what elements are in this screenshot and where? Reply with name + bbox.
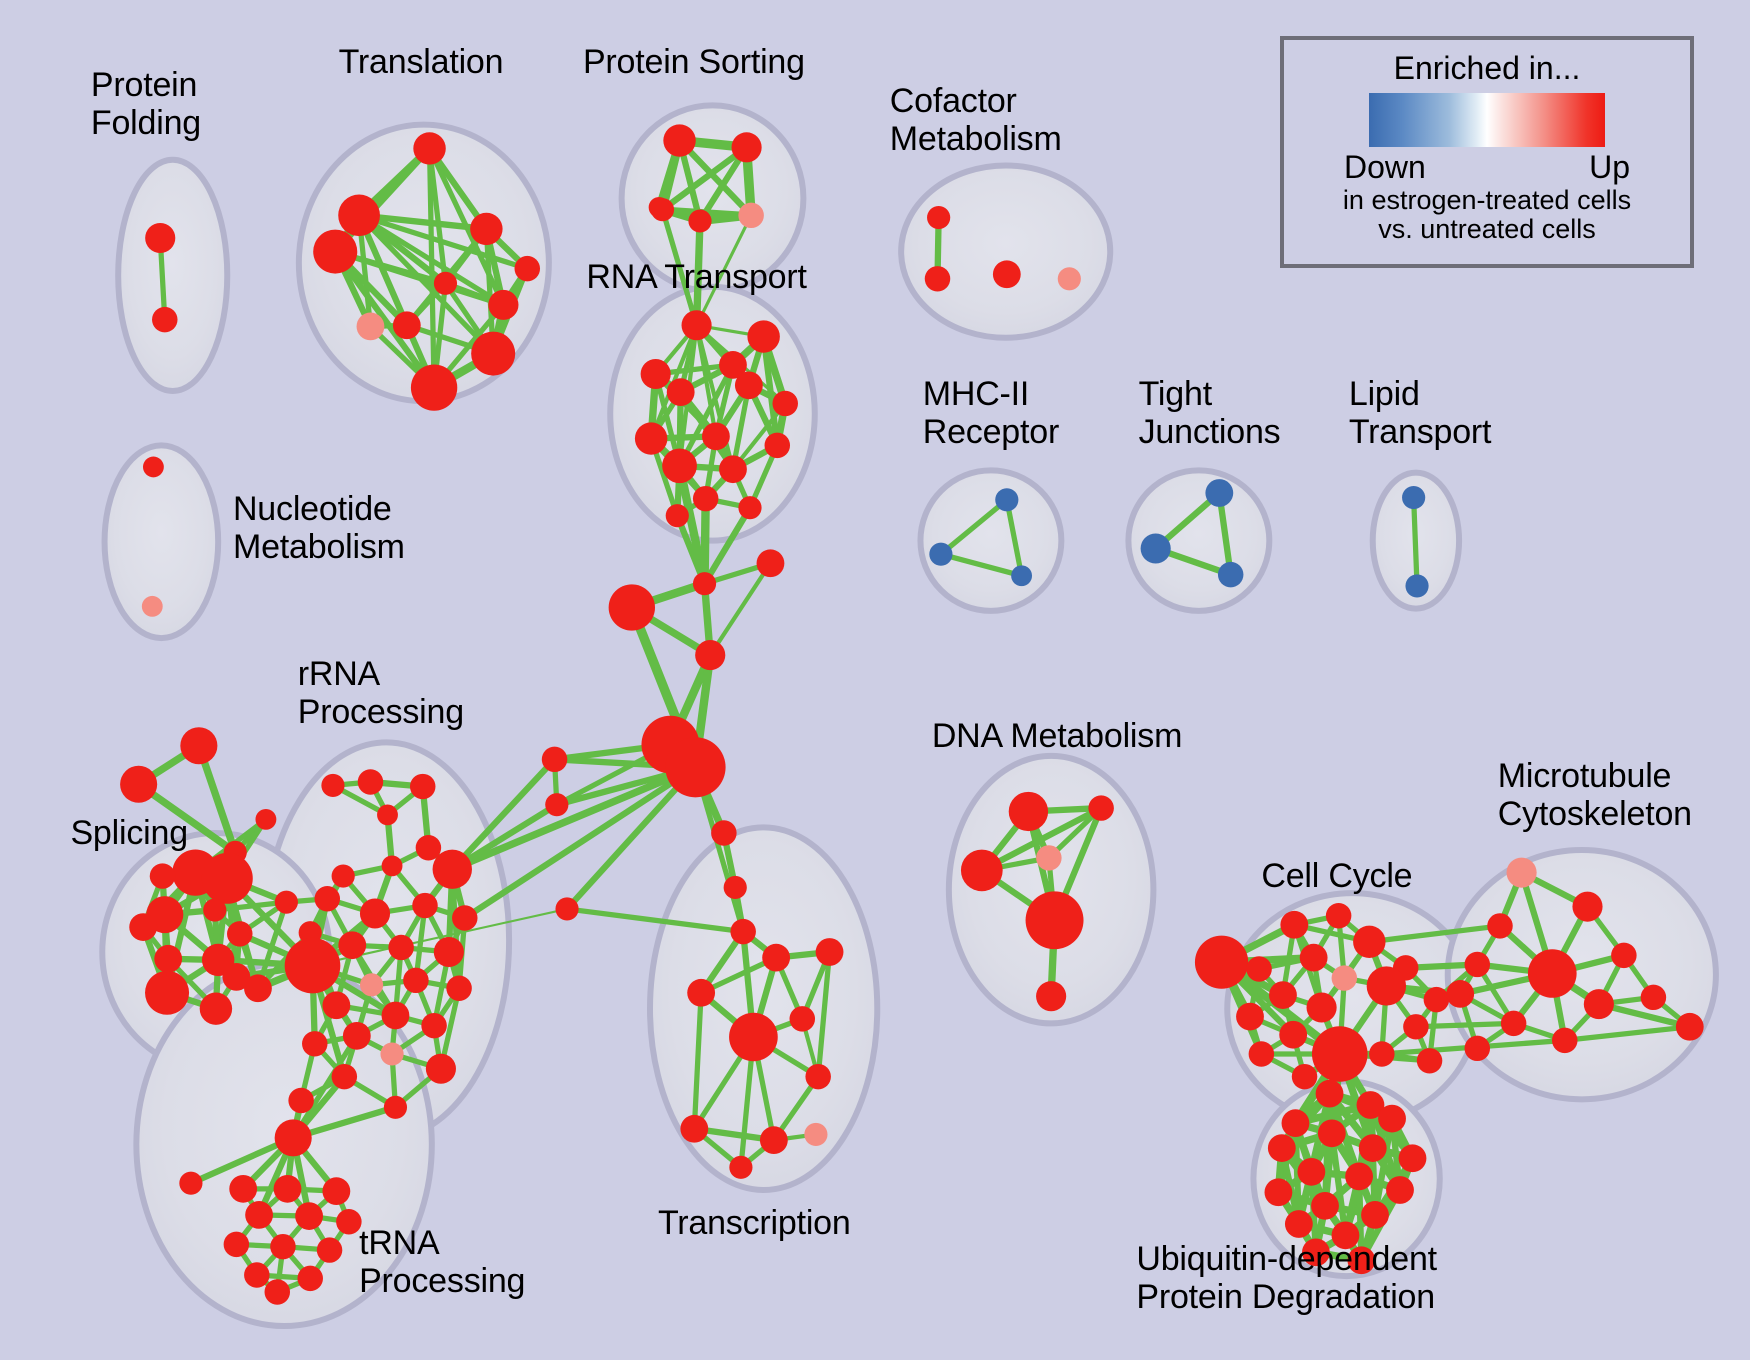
network-node[interactable] <box>687 979 715 1007</box>
cluster-ellipse-protein_folding[interactable] <box>118 160 227 391</box>
network-node[interactable] <box>357 313 385 341</box>
network-node[interactable] <box>202 853 253 904</box>
network-node[interactable] <box>313 230 357 274</box>
network-node[interactable] <box>1465 1036 1491 1061</box>
legend-endpoint-labels: Down Up <box>1344 149 1630 186</box>
cluster-ellipse-microtubule[interactable] <box>1448 850 1716 1099</box>
network-node[interactable] <box>1446 980 1474 1008</box>
network-node[interactable] <box>275 1119 312 1156</box>
cluster-label-rrna_processing: rRNA Processing <box>298 655 464 731</box>
network-node[interactable] <box>1292 1064 1318 1089</box>
cluster-label-dna_metabolism: DNA Metabolism <box>932 717 1182 755</box>
network-node[interactable] <box>649 197 670 218</box>
network-node[interactable] <box>730 919 756 944</box>
network-node[interactable] <box>1424 987 1450 1012</box>
network-node[interactable] <box>729 1013 778 1062</box>
network-node[interactable] <box>1378 1105 1406 1133</box>
network-node[interactable] <box>452 905 478 930</box>
network-node[interactable] <box>410 774 436 799</box>
network-node[interactable] <box>545 793 568 816</box>
network-node[interactable] <box>471 332 515 376</box>
network-node[interactable] <box>302 1031 328 1056</box>
network-node[interactable] <box>816 938 844 966</box>
network-node[interactable] <box>555 897 578 920</box>
network-node[interactable] <box>393 311 421 339</box>
network-node[interactable] <box>635 422 667 454</box>
network-node[interactable] <box>358 769 384 794</box>
network-node[interactable] <box>1218 562 1244 587</box>
network-node[interactable] <box>150 863 176 888</box>
cluster-label-protein_folding: Protein Folding <box>91 66 201 142</box>
network-node[interactable] <box>1307 993 1337 1023</box>
network-node[interactable] <box>641 359 671 389</box>
network-node[interactable] <box>295 1202 323 1230</box>
network-node[interactable] <box>1236 1003 1264 1031</box>
network-node[interactable] <box>434 937 464 967</box>
network-node[interactable] <box>790 1006 816 1031</box>
network-node[interactable] <box>738 496 761 519</box>
network-node[interactable] <box>693 572 716 595</box>
network-node[interactable] <box>1465 952 1491 977</box>
cluster-label-lipid_transport: Lipid Transport <box>1349 375 1491 451</box>
network-node[interactable] <box>1300 944 1328 972</box>
cluster-label-microtubule: Microtubule Cytoskeleton <box>1498 757 1692 833</box>
network-node[interactable] <box>1311 1192 1339 1220</box>
network-node[interactable] <box>145 971 189 1015</box>
network-node[interactable] <box>288 1088 314 1113</box>
network-node[interactable] <box>1507 858 1537 888</box>
network-node[interactable] <box>360 898 390 928</box>
legend-high-label: Up <box>1589 149 1630 186</box>
network-node[interactable] <box>384 1096 407 1119</box>
network-node[interactable] <box>488 290 518 320</box>
network-node[interactable] <box>120 766 157 803</box>
network-node[interactable] <box>688 209 711 232</box>
network-node[interactable] <box>224 1232 250 1257</box>
network-node[interactable] <box>1280 911 1308 939</box>
network-node[interactable] <box>1584 989 1614 1019</box>
network-node[interactable] <box>274 1175 302 1203</box>
network-node[interactable] <box>1552 1028 1578 1053</box>
network-node[interactable] <box>338 195 380 237</box>
network-node[interactable] <box>1528 949 1577 998</box>
network-node[interactable] <box>1026 891 1084 949</box>
network-node[interactable] <box>760 1126 788 1154</box>
network-node[interactable] <box>1269 981 1297 1009</box>
network-node[interactable] <box>693 486 719 511</box>
edge[interactable] <box>705 499 706 584</box>
network-node[interactable] <box>245 1201 273 1229</box>
network-node[interactable] <box>227 921 253 946</box>
legend-caption-line-1: in estrogen-treated cells <box>1343 186 1631 215</box>
network-node[interactable] <box>1572 892 1602 922</box>
cluster-label-transcription: Transcription <box>658 1204 851 1242</box>
network-node[interactable] <box>275 891 298 914</box>
network-node[interactable] <box>665 737 725 797</box>
network-node[interactable] <box>142 596 163 617</box>
network-node[interactable] <box>1009 792 1048 831</box>
network-node[interactable] <box>433 850 472 889</box>
network-node[interactable] <box>1268 1134 1296 1162</box>
edge[interactable] <box>1414 498 1417 586</box>
network-node[interactable] <box>200 992 232 1024</box>
network-node[interactable] <box>1141 534 1171 564</box>
network-node[interactable] <box>336 1209 362 1234</box>
network-node[interactable] <box>1265 1178 1293 1206</box>
network-node[interactable] <box>145 223 175 253</box>
network-node[interactable] <box>129 913 157 941</box>
edge[interactable] <box>1416 1023 1514 1026</box>
network-node[interactable] <box>1399 1144 1427 1172</box>
network-node[interactable] <box>1297 1158 1325 1186</box>
network-node[interactable] <box>421 1013 447 1038</box>
network-node[interactable] <box>1641 985 1667 1010</box>
network-node[interactable] <box>434 272 457 295</box>
network-node[interactable] <box>222 963 250 991</box>
network-node[interactable] <box>322 991 350 1019</box>
cluster-ellipse-cofactor[interactable] <box>901 165 1110 337</box>
network-node[interactable] <box>1279 1021 1307 1049</box>
network-node[interactable] <box>1402 486 1425 509</box>
network-node[interactable] <box>735 371 763 399</box>
network-node[interactable] <box>732 132 762 162</box>
legend-color-bar <box>1369 93 1605 147</box>
network-node[interactable] <box>413 132 445 164</box>
network-node[interactable] <box>1361 1201 1389 1229</box>
network-node[interactable] <box>1501 1011 1527 1036</box>
network-node[interactable] <box>667 378 695 406</box>
network-node[interactable] <box>1326 903 1352 928</box>
network-node[interactable] <box>1036 981 1066 1011</box>
network-node[interactable] <box>332 865 355 888</box>
cluster-label-tight_junctions: Tight Junctions <box>1139 375 1281 451</box>
cluster-label-rna_transport: RNA Transport <box>586 258 806 296</box>
network-node[interactable] <box>343 1022 371 1050</box>
network-node[interactable] <box>1369 1041 1395 1066</box>
network-node[interactable] <box>927 206 950 229</box>
legend-low-label: Down <box>1344 149 1426 186</box>
network-node[interactable] <box>380 1042 403 1065</box>
network-node[interactable] <box>1036 845 1062 870</box>
network-node[interactable] <box>360 973 383 996</box>
network-node[interactable] <box>724 876 747 899</box>
network-node[interactable] <box>1318 1119 1346 1147</box>
network-node[interactable] <box>805 1064 831 1089</box>
network-node[interactable] <box>757 549 785 577</box>
network-node[interactable] <box>229 1175 257 1203</box>
network-node[interactable] <box>255 809 276 830</box>
network-node[interactable] <box>1088 795 1114 820</box>
network-node[interactable] <box>388 935 414 960</box>
cluster-ellipse-mhc2[interactable] <box>920 470 1061 611</box>
network-node[interactable] <box>470 213 502 245</box>
network-node[interactable] <box>297 1266 323 1291</box>
network-node[interactable] <box>426 1054 456 1084</box>
network-node[interactable] <box>929 543 952 566</box>
cluster-label-mhc2: MHC-II Receptor <box>923 375 1059 451</box>
network-node[interactable] <box>515 256 541 281</box>
network-node[interactable] <box>1285 1210 1313 1238</box>
network-node[interactable] <box>1058 267 1081 290</box>
network-node[interactable] <box>663 124 695 156</box>
network-node[interactable] <box>925 266 951 291</box>
network-node[interactable] <box>377 804 398 825</box>
network-node[interactable] <box>317 1237 343 1262</box>
network-node[interactable] <box>322 1177 350 1205</box>
network-node[interactable] <box>765 433 791 458</box>
network-node[interactable] <box>154 945 182 973</box>
network-node[interactable] <box>738 203 764 228</box>
network-node[interactable] <box>1205 479 1233 507</box>
legend-title: Enriched in... <box>1394 50 1581 87</box>
network-node[interactable] <box>719 455 747 483</box>
network-node[interactable] <box>961 850 1003 892</box>
cluster-label-splicing: Splicing <box>70 814 187 852</box>
network-node[interactable] <box>804 1123 827 1146</box>
network-node[interactable] <box>412 893 438 918</box>
network-node[interactable] <box>285 938 341 993</box>
network-node[interactable] <box>180 727 217 764</box>
network-node[interactable] <box>338 931 366 959</box>
network-node[interactable] <box>403 968 429 993</box>
network-node[interactable] <box>1011 565 1032 586</box>
network-node[interactable] <box>1195 936 1248 989</box>
network-node[interactable] <box>702 422 730 450</box>
network-node[interactable] <box>762 944 790 972</box>
network-node[interactable] <box>332 1064 358 1089</box>
network-node[interactable] <box>1316 1080 1344 1108</box>
network-node[interactable] <box>666 504 689 527</box>
network-node[interactable] <box>711 820 737 845</box>
network-node[interactable] <box>382 1002 410 1030</box>
network-node[interactable] <box>995 488 1018 511</box>
network-node[interactable] <box>270 1234 296 1259</box>
network-node[interactable] <box>179 1172 202 1195</box>
network-node[interactable] <box>1487 913 1513 938</box>
network-node[interactable] <box>152 307 178 332</box>
cluster-label-protein_sorting: Protein Sorting <box>583 43 805 81</box>
network-node[interactable] <box>747 320 779 352</box>
network-node[interactable] <box>1367 966 1406 1005</box>
network-node[interactable] <box>993 260 1021 288</box>
legend-caption-line-2: vs. untreated cells <box>1378 215 1596 244</box>
network-node[interactable] <box>244 1262 270 1287</box>
network-node[interactable] <box>143 457 164 478</box>
network-node[interactable] <box>1676 1013 1704 1041</box>
network-node[interactable] <box>772 391 798 416</box>
cluster-label-nucleotide: Nucleotide Metabolism <box>233 490 405 566</box>
network-node[interactable] <box>203 899 226 922</box>
cluster-label-cofactor: Cofactor Metabolism <box>890 82 1062 158</box>
network-node[interactable] <box>729 1156 752 1179</box>
network-node[interactable] <box>446 976 472 1001</box>
network-node[interactable] <box>1249 1041 1275 1066</box>
network-node[interactable] <box>542 747 568 772</box>
network-node[interactable] <box>1345 1163 1373 1191</box>
cluster-label-trna_processing: tRNA Processing <box>359 1224 525 1300</box>
network-node[interactable] <box>1353 926 1385 958</box>
network-node[interactable] <box>315 886 341 911</box>
legend-panel: Enriched in... Down Up in estrogen-treat… <box>1280 36 1694 268</box>
network-node[interactable] <box>1332 965 1358 990</box>
network-node[interactable] <box>1405 574 1428 597</box>
network-node[interactable] <box>682 310 712 340</box>
network-node[interactable] <box>662 448 697 483</box>
network-node[interactable] <box>680 1115 708 1143</box>
cluster-label-cell_cycle: Cell Cycle <box>1261 857 1412 895</box>
network-node[interactable] <box>609 584 655 630</box>
network-node[interactable] <box>1246 956 1272 981</box>
cluster-label-translation: Translation <box>339 43 504 81</box>
network-node[interactable] <box>1312 1026 1368 1081</box>
network-node[interactable] <box>1403 1014 1429 1039</box>
network-node[interactable] <box>1282 1109 1310 1137</box>
network-node[interactable] <box>1359 1134 1387 1162</box>
cluster-label-ubiquitin: Ubiquitin-dependent Protein Degradation <box>1136 1240 1437 1316</box>
network-node[interactable] <box>382 855 403 876</box>
network-node[interactable] <box>1611 943 1637 968</box>
network-node[interactable] <box>1386 1176 1414 1204</box>
enrichment-network-figure: Protein FoldingTranslationProtein Sortin… <box>0 0 1750 1360</box>
network-node[interactable] <box>411 364 457 410</box>
network-node[interactable] <box>1417 1048 1443 1073</box>
network-node[interactable] <box>695 640 725 670</box>
network-node[interactable] <box>321 774 344 797</box>
network-node[interactable] <box>265 1279 291 1304</box>
